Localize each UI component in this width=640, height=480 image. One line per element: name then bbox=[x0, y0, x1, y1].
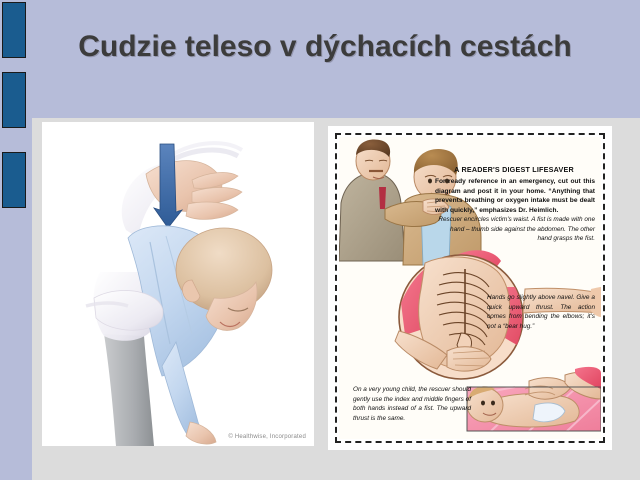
caption-young-child: On a very young child, the rescuer shoul… bbox=[353, 385, 471, 423]
copyright-notice: © Healthwise, Incorporated bbox=[228, 434, 306, 440]
left-decorative-rail bbox=[0, 0, 32, 480]
decorative-block-1 bbox=[2, 2, 26, 58]
decorative-block-3 bbox=[2, 152, 26, 208]
back-blows-drawing bbox=[42, 122, 314, 446]
page-title: Cudzie teleso v dýchacích cestách bbox=[60, 28, 590, 66]
left-image-panel: © Healthwise, Incorporated bbox=[42, 122, 314, 446]
caption-rescuer-encircles: Rescuer encircles victim's waist. A fist… bbox=[435, 215, 595, 244]
decorative-block-2 bbox=[2, 72, 26, 128]
right-image-panel: A READER'S DIGEST LIFESAVER For ready re… bbox=[328, 126, 612, 450]
caption-hands-above-navel: Hands go slightly above navel. Give a qu… bbox=[487, 293, 595, 331]
diagram-body-text: For ready reference in an emergency, cut… bbox=[435, 177, 595, 215]
lifesaver-diagram-content: A READER'S DIGEST LIFESAVER For ready re… bbox=[339, 137, 601, 439]
back-blows-illustration bbox=[42, 122, 314, 446]
diagram-heading: A READER'S DIGEST LIFESAVER bbox=[435, 165, 593, 174]
presentation-slide: Cudzie teleso v dýchacích cestách bbox=[0, 0, 640, 480]
